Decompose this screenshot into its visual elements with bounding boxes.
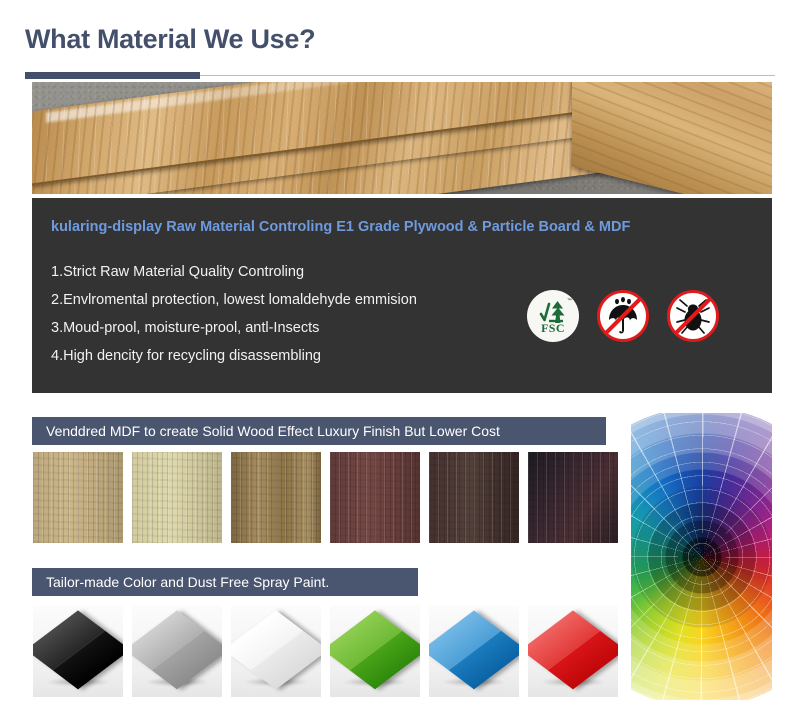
veneer-section-banner: Venddred MDF to create Solid Wood Effect…: [32, 417, 606, 445]
paint-swatch-row: [33, 605, 618, 697]
veneer-natural-walnut[interactable]: [231, 452, 321, 543]
veneer-ebony[interactable]: [528, 452, 618, 543]
page-title: What Material We Use?: [25, 24, 315, 55]
list-item: 2.Envlromental protection, lowest lomald…: [51, 286, 417, 314]
certification-badge-row: ™ FSC: [527, 290, 719, 342]
paint-tile-black[interactable]: [33, 605, 123, 697]
hero-wood-slab-photo: [32, 82, 772, 194]
list-item: 4.High dencity for recycling disassembli…: [51, 342, 417, 370]
color-wheel-chart: [631, 413, 772, 700]
fsc-label: FSC: [527, 321, 579, 336]
color-wheel-disc: [631, 413, 772, 700]
list-item: 3.Moud-prool, moisture-prool, antl-Insec…: [51, 314, 417, 342]
feature-panel-heading: kularing-display Raw Material Controling…: [51, 219, 630, 235]
paint-tile-red[interactable]: [528, 605, 618, 697]
paint-section-banner: Tailor-made Color and Dust Free Spray Pa…: [32, 568, 418, 596]
divider-accent-bar: [25, 72, 200, 79]
paint-tile-white[interactable]: [231, 605, 321, 697]
veneer-dark-wenge[interactable]: [429, 452, 519, 543]
veneer-light-oak[interactable]: [33, 452, 123, 543]
paint-tile-green[interactable]: [330, 605, 420, 697]
veneer-pale-maple[interactable]: [132, 452, 222, 543]
feature-list: 1.Strict Raw Material Quality Controling…: [51, 258, 417, 370]
no-insects-badge: [667, 290, 719, 342]
ring-divider-lines: [631, 413, 772, 700]
veneer-swatch-row: [33, 452, 618, 543]
trademark-symbol: ™: [567, 298, 572, 304]
paint-tile-grey[interactable]: [132, 605, 222, 697]
title-divider: [0, 71, 800, 81]
list-item: 1.Strict Raw Material Quality Controling: [51, 258, 417, 286]
fsc-certification-badge: ™ FSC: [527, 290, 579, 342]
no-moisture-badge: [597, 290, 649, 342]
veneer-rosewood[interactable]: [330, 452, 420, 543]
paint-tile-blue[interactable]: [429, 605, 519, 697]
